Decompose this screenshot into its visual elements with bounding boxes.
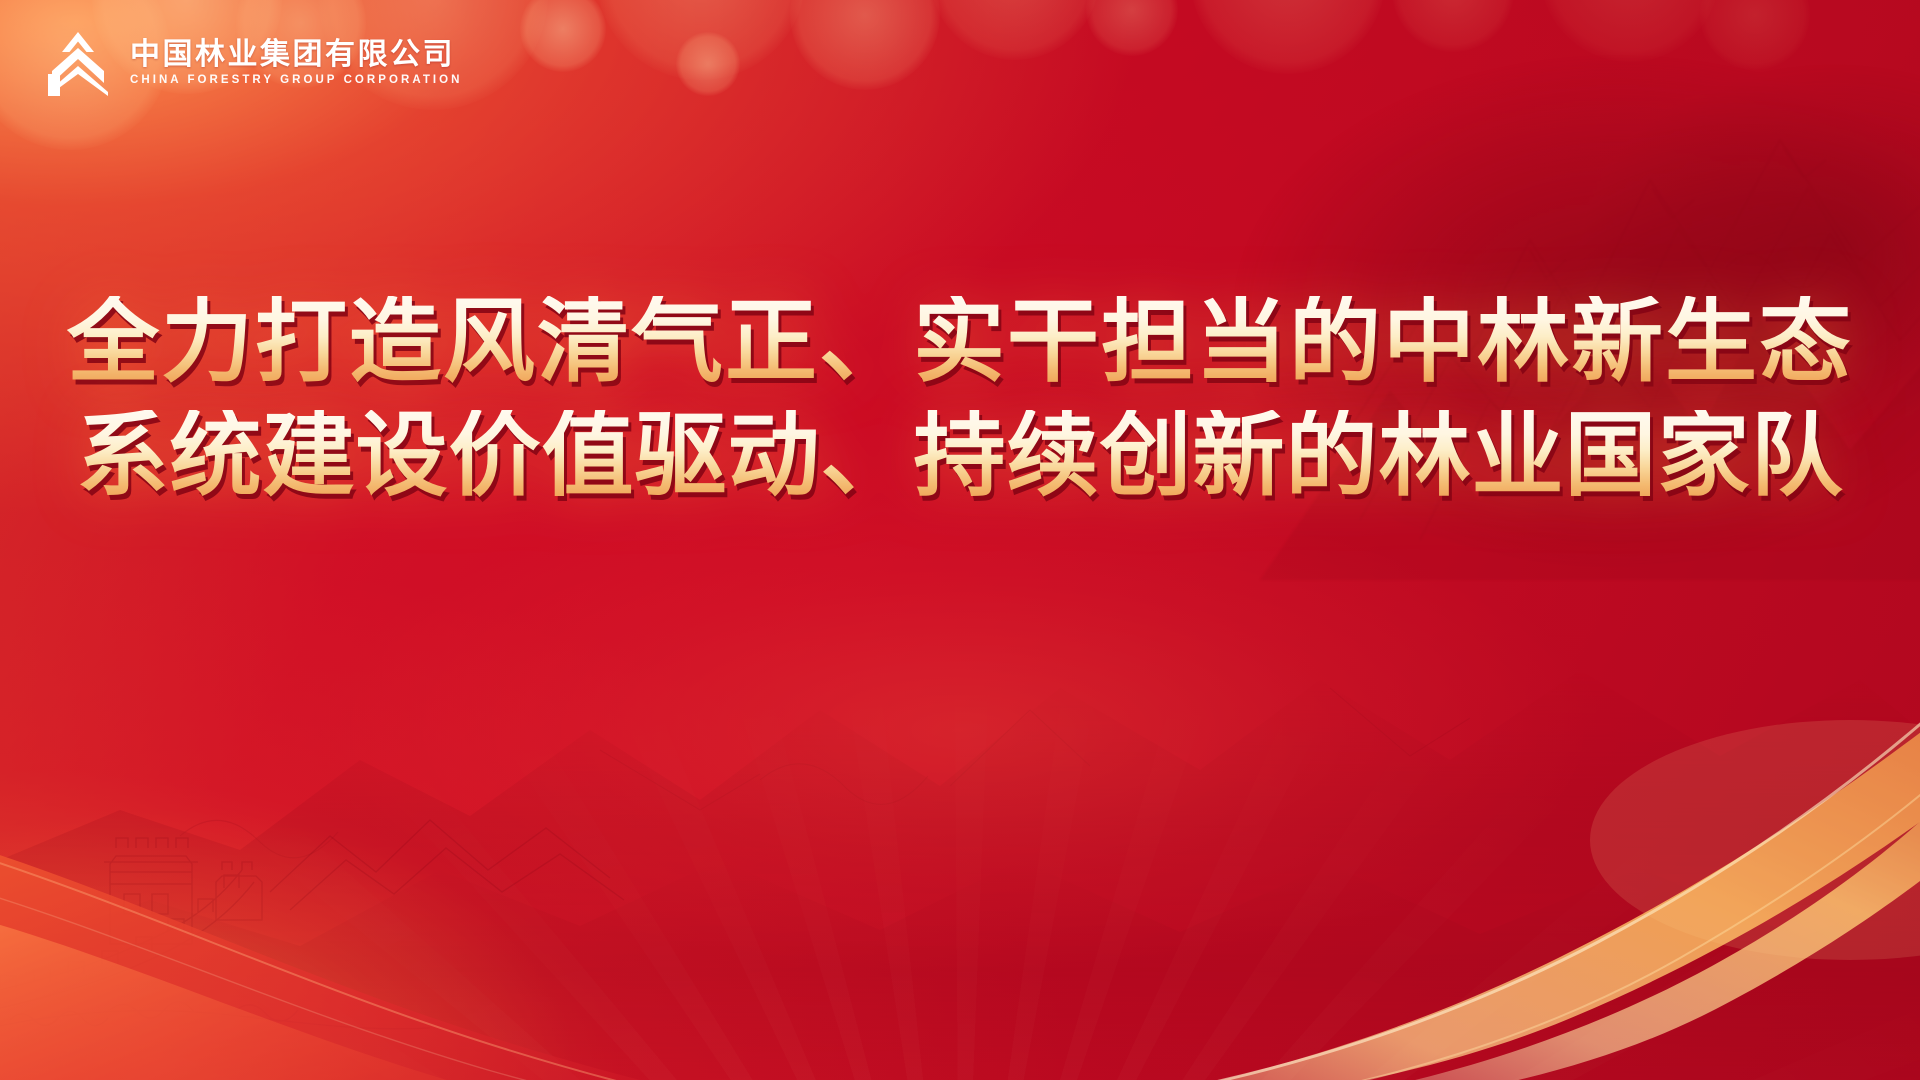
- slogan-banner: 中国林业集团有限公司 CHINA FORESTRY GROUP CORPORAT…: [0, 0, 1920, 1080]
- brand-name-en: CHINA FORESTRY GROUP CORPORATION: [130, 75, 463, 87]
- headline-line-1: 全力打造风清气正、实干担当的中林新生态: [67, 296, 1853, 388]
- china-forestry-group-pine-mark-icon: [42, 30, 114, 96]
- brand-logo-lockup: 中国林业集团有限公司 CHINA FORESTRY GROUP CORPORAT…: [42, 30, 463, 96]
- headline-line-2: 系统建设价值驱动、持续创新的林业国家队: [76, 410, 1843, 502]
- great-wall-watermark: [0, 744, 630, 1044]
- headline-block: 全力打造风清气正、实干担当的中林新生态 系统建设价值驱动、持续创新的林业国家队: [0, 296, 1920, 502]
- brand-name-cn: 中国林业集团有限公司: [130, 40, 463, 70]
